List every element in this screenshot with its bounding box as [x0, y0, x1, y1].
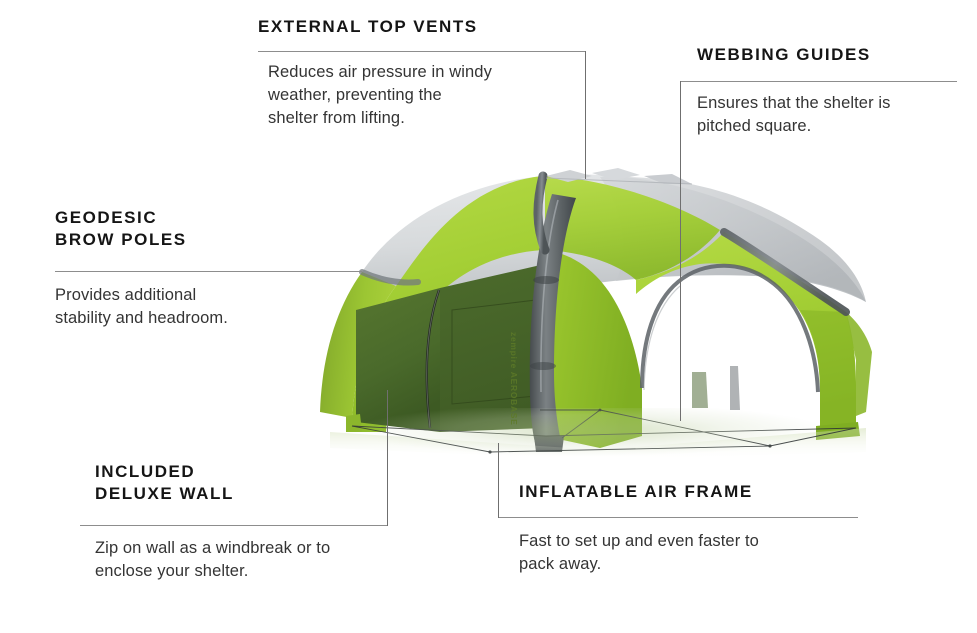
callout-title-webbing-guides: WEBBING GUIDES: [697, 44, 977, 66]
callout-rule-webbing-guides: [680, 81, 957, 82]
callout-geodesic-brow-poles: GEODESIC BROW POLES: [55, 207, 345, 251]
callout-webbing-guides: WEBBING GUIDES: [697, 44, 977, 66]
deluxe-wall-mesh: [440, 264, 545, 432]
callout-included-deluxe-wall: INCLUDED DELUXE WALL: [95, 461, 395, 505]
callout-title-geodesic-brow-poles: GEODESIC BROW POLES: [55, 207, 345, 251]
callout-rule-geodesic-brow-poles: [55, 271, 362, 272]
callout-title-included-deluxe-wall: INCLUDED DELUXE WALL: [95, 461, 395, 505]
callout-body-geodesic-brow-poles: Provides additional stability and headro…: [55, 284, 345, 330]
callout-body-inflatable-air-frame: Fast to set up and even faster to pack a…: [519, 530, 849, 576]
leader-line-inflatable-air-frame: [498, 443, 499, 518]
tent-right-arch-shade: [800, 310, 856, 438]
callout-body-included-deluxe-wall: Zip on wall as a windbreak or to enclose…: [95, 537, 415, 583]
callout-rule-included-deluxe-wall: [80, 525, 388, 526]
callout-title-inflatable-air-frame: INFLATABLE AIR FRAME: [519, 481, 849, 503]
callout-inflatable-air-frame: INFLATABLE AIR FRAME: [519, 481, 849, 503]
tent-rear-leg: [730, 366, 740, 410]
leader-line-external-top-vents: [585, 51, 586, 179]
leader-line-included-deluxe-wall: [387, 390, 388, 526]
callout-rule-inflatable-air-frame: [498, 517, 858, 518]
product-brand-mark: zempire AEROBASE: [509, 332, 519, 426]
callout-rule-external-top-vents: [258, 51, 586, 52]
air-tube-seam-upper: [533, 276, 559, 284]
leader-line-webbing-guides: [680, 81, 681, 421]
callout-title-external-top-vents: EXTERNAL TOP VENTS: [258, 16, 588, 38]
callout-external-top-vents: EXTERNAL TOP VENTS: [258, 16, 588, 38]
tent-rear-wall-glimpse: [692, 372, 708, 408]
callout-body-webbing-guides: Ensures that the shelter is pitched squa…: [697, 92, 967, 138]
air-tube-seam-lower: [530, 362, 556, 370]
infographic-canvas: zempire AEROBASE EXTERNAL TOP VENTS Redu…: [0, 0, 977, 633]
leg-base-left: [346, 414, 362, 432]
callout-body-external-top-vents: Reduces air pressure in windy weather, p…: [268, 61, 568, 129]
